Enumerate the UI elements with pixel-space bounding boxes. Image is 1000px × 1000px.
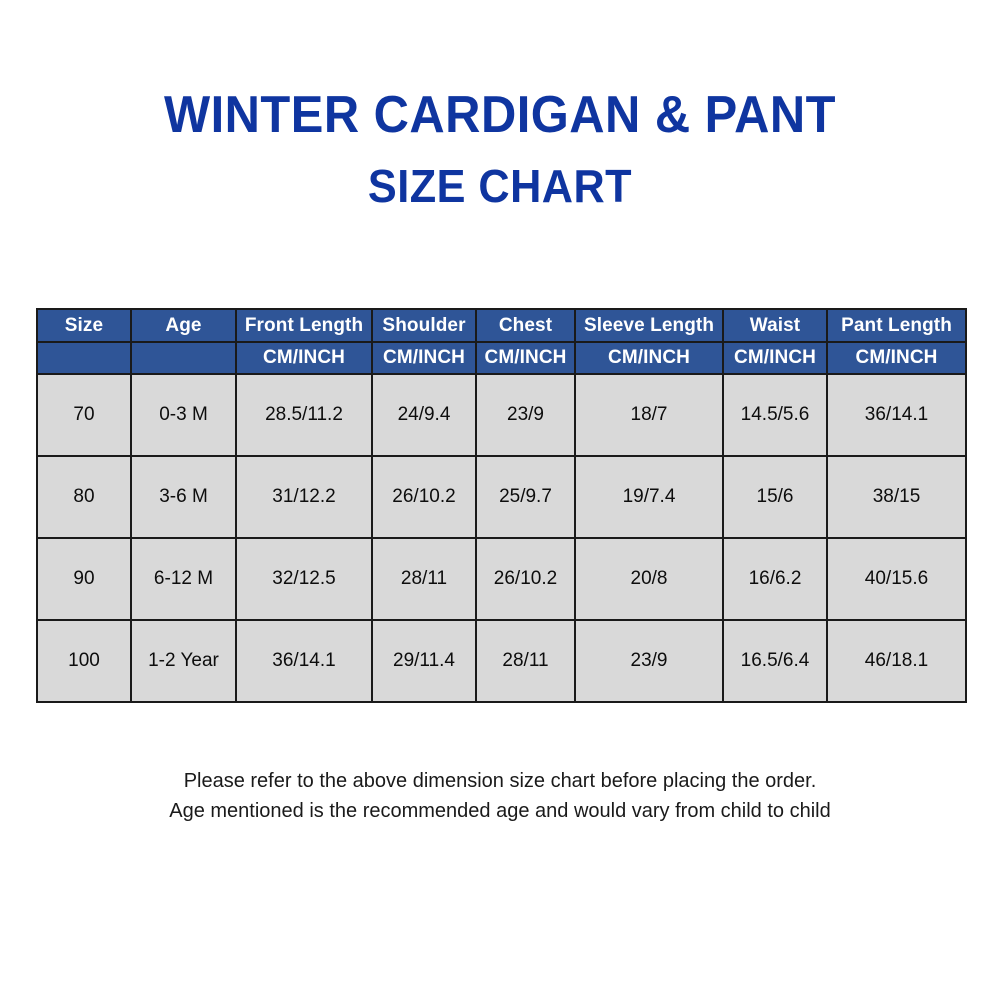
cell-sleeve-length: 20/8 [575,538,723,620]
unit-cell-waist: CM/INCH [723,342,827,374]
table-header-row: Size Age Front Length Shoulder Chest Sle… [37,309,966,342]
unit-cell-size [37,342,131,374]
cell-chest: 23/9 [476,374,575,456]
unit-cell-sleeve-length: CM/INCH [575,342,723,374]
column-header-sleeve-length: Sleeve Length [575,309,723,342]
cell-shoulder: 28/11 [372,538,476,620]
cell-shoulder: 26/10.2 [372,456,476,538]
cell-shoulder: 24/9.4 [372,374,476,456]
cell-pant-length: 46/18.1 [827,620,966,702]
cell-pant-length: 36/14.1 [827,374,966,456]
cell-size: 70 [37,374,131,456]
size-chart-table-container: Size Age Front Length Shoulder Chest Sle… [36,308,965,703]
unit-cell-pant-length: CM/INCH [827,342,966,374]
title-line-primary: WINTER CARDIGAN & PANT [30,86,970,144]
table-row: 100 1-2 Year 36/14.1 29/11.4 28/11 23/9 … [37,620,966,702]
table-unit-row: CM/INCH CM/INCH CM/INCH CM/INCH CM/INCH … [37,342,966,374]
cell-front-length: 28.5/11.2 [236,374,372,456]
unit-cell-front-length: CM/INCH [236,342,372,374]
cell-sleeve-length: 19/7.4 [575,456,723,538]
table-row: 70 0-3 M 28.5/11.2 24/9.4 23/9 18/7 14.5… [37,374,966,456]
cell-size: 90 [37,538,131,620]
column-header-chest: Chest [476,309,575,342]
column-header-front-length: Front Length [236,309,372,342]
column-header-size: Size [37,309,131,342]
column-header-shoulder: Shoulder [372,309,476,342]
column-header-age: Age [131,309,236,342]
page-title: WINTER CARDIGAN & PANT SIZE CHART [0,86,1000,212]
cell-size: 100 [37,620,131,702]
unit-cell-chest: CM/INCH [476,342,575,374]
unit-cell-shoulder: CM/INCH [372,342,476,374]
cell-waist: 16/6.2 [723,538,827,620]
cell-waist: 15/6 [723,456,827,538]
table-row: 90 6-12 M 32/12.5 28/11 26/10.2 20/8 16/… [37,538,966,620]
cell-sleeve-length: 18/7 [575,374,723,456]
cell-pant-length: 40/15.6 [827,538,966,620]
cell-age: 1-2 Year [131,620,236,702]
table-row: 80 3-6 M 31/12.2 26/10.2 25/9.7 19/7.4 1… [37,456,966,538]
cell-front-length: 31/12.2 [236,456,372,538]
cell-waist: 16.5/6.4 [723,620,827,702]
footer-note-line-1: Please refer to the above dimension size… [0,766,1000,796]
column-header-pant-length: Pant Length [827,309,966,342]
cell-age: 3-6 M [131,456,236,538]
cell-pant-length: 38/15 [827,456,966,538]
cell-waist: 14.5/5.6 [723,374,827,456]
column-header-waist: Waist [723,309,827,342]
footer-note: Please refer to the above dimension size… [0,766,1000,826]
cell-shoulder: 29/11.4 [372,620,476,702]
cell-sleeve-length: 23/9 [575,620,723,702]
cell-age: 6-12 M [131,538,236,620]
size-chart-table: Size Age Front Length Shoulder Chest Sle… [36,308,967,703]
cell-chest: 26/10.2 [476,538,575,620]
title-line-secondary: SIZE CHART [30,160,970,212]
cell-size: 80 [37,456,131,538]
cell-chest: 28/11 [476,620,575,702]
unit-cell-age [131,342,236,374]
cell-front-length: 32/12.5 [236,538,372,620]
cell-chest: 25/9.7 [476,456,575,538]
cell-front-length: 36/14.1 [236,620,372,702]
cell-age: 0-3 M [131,374,236,456]
footer-note-line-2: Age mentioned is the recommended age and… [0,796,1000,826]
